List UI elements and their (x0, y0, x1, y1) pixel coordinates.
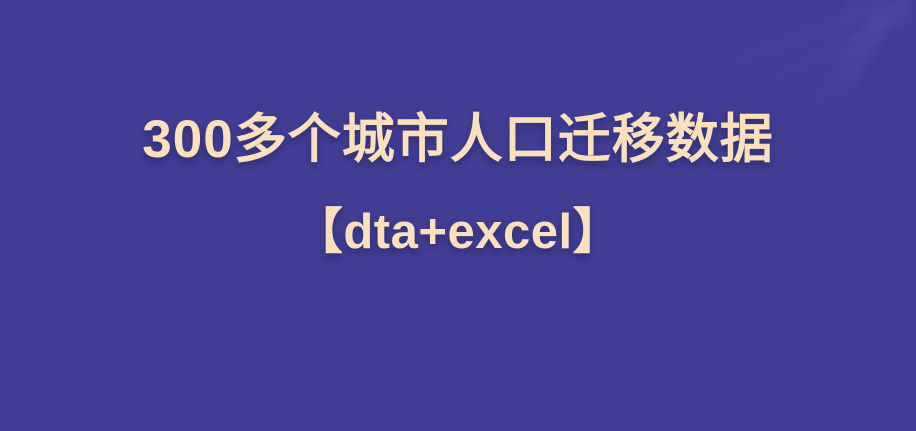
promo-banner: 300多个城市人口迁移数据 【dta+excel】 (0, 0, 916, 431)
headline-secondary: 【dta+excel】 (294, 208, 622, 257)
headline-primary: 300多个城市人口迁移数据 (142, 113, 773, 166)
